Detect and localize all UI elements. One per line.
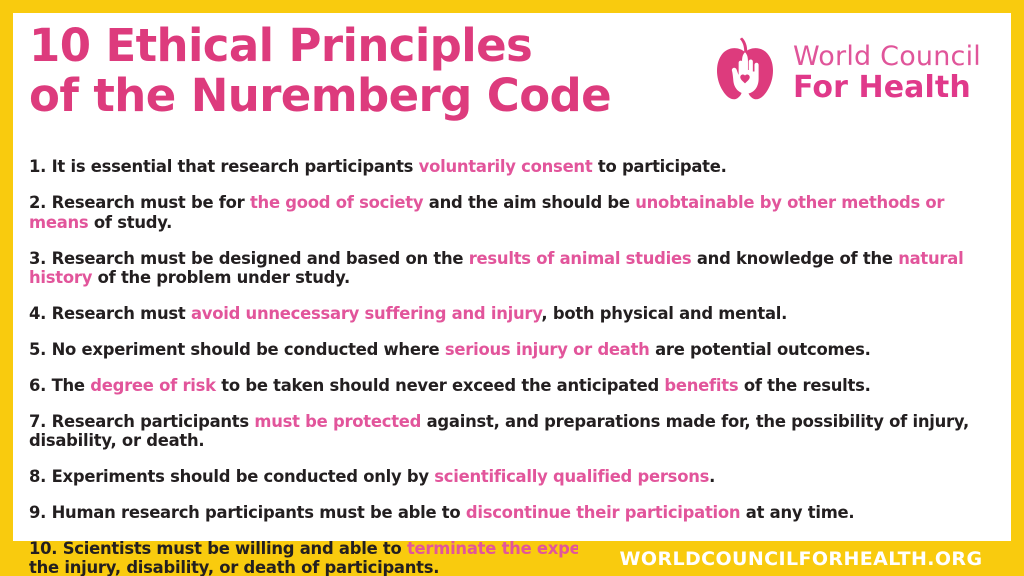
principle-text: 6. The — [29, 376, 90, 395]
principle-text: of study. — [88, 213, 172, 232]
header: 10 Ethical Principles of the Nuremberg C… — [13, 13, 1011, 139]
principle-text: 1. It is essential that research partici… — [29, 157, 419, 176]
page-title: 10 Ethical Principles of the Nuremberg C… — [29, 21, 611, 121]
principle-text: 4. Research must — [29, 304, 191, 323]
principle-text: 10. Scientists must be willing and able … — [29, 539, 407, 558]
principle-item: 9. Human research participants must be a… — [29, 503, 991, 523]
principle-highlight-text: results of animal studies — [469, 249, 692, 268]
principle-text: are potential outcomes. — [650, 340, 871, 359]
principle-text: of the results. — [738, 376, 870, 395]
principles-list: 1. It is essential that research partici… — [29, 141, 991, 576]
principle-highlight-text: must be protected — [254, 412, 421, 431]
brand-logo: World Council For Health — [708, 36, 981, 110]
principle-item: 5. No experiment should be conducted whe… — [29, 340, 991, 360]
principle-text: to be taken should never exceed the anti… — [216, 376, 665, 395]
principle-item: 1. It is essential that research partici… — [29, 157, 991, 177]
principle-highlight-text: voluntarily consent — [419, 157, 593, 176]
principle-highlight-text: the good of society — [250, 193, 423, 212]
website-url-text: WORLDCOUNCILFORHEALTH.ORG — [620, 548, 983, 570]
brand-logo-wordmark: World Council For Health — [793, 43, 981, 103]
principle-item: 8. Experiments should be conducted only … — [29, 467, 991, 487]
brand-logo-line1: World Council — [793, 43, 981, 70]
principle-highlight-text: scientifically qualified persons — [434, 467, 709, 486]
principle-text: at any time. — [740, 503, 854, 522]
principle-text: of the problem under study. — [92, 268, 350, 287]
principle-text: 3. Research must be designed and based o… — [29, 249, 469, 268]
principle-text: 5. No experiment should be conducted whe… — [29, 340, 445, 359]
content-card: 10 Ethical Principles of the Nuremberg C… — [13, 13, 1011, 541]
principle-text: 7. Research participants — [29, 412, 254, 431]
principle-text: , both physical and mental. — [541, 304, 787, 323]
principle-text: . — [709, 467, 715, 486]
brand-logo-line2: For Health — [793, 73, 981, 103]
principle-item: 2. Research must be for the good of soci… — [29, 193, 991, 232]
principle-highlight-text: degree of risk — [90, 376, 216, 395]
principle-highlight-text: avoid unnecessary suffering and injury — [191, 304, 541, 323]
apple-with-hand-and-heart-logo-icon — [708, 36, 782, 110]
principle-text: 8. Experiments should be conducted only … — [29, 467, 434, 486]
principle-highlight-text: discontinue their participation — [466, 503, 740, 522]
principle-text: to participate. — [592, 157, 726, 176]
website-url-ribbon: WORLDCOUNCILFORHEALTH.ORG — [578, 541, 1024, 576]
principle-item: 6. The degree of risk to be taken should… — [29, 376, 991, 396]
principle-item: 7. Research participants must be protect… — [29, 412, 991, 451]
principle-text: and the aim should be — [423, 193, 635, 212]
principle-highlight-text: benefits — [664, 376, 738, 395]
principle-text: and knowledge of the — [691, 249, 898, 268]
principle-text: 2. Research must be for — [29, 193, 250, 212]
principle-highlight-text: serious injury or death — [445, 340, 650, 359]
poster-root: 10 Ethical Principles of the Nuremberg C… — [0, 0, 1024, 576]
principle-item: 4. Research must avoid unnecessary suffe… — [29, 304, 991, 324]
principle-item: 3. Research must be designed and based o… — [29, 249, 991, 288]
principle-text: 9. Human research participants must be a… — [29, 503, 466, 522]
